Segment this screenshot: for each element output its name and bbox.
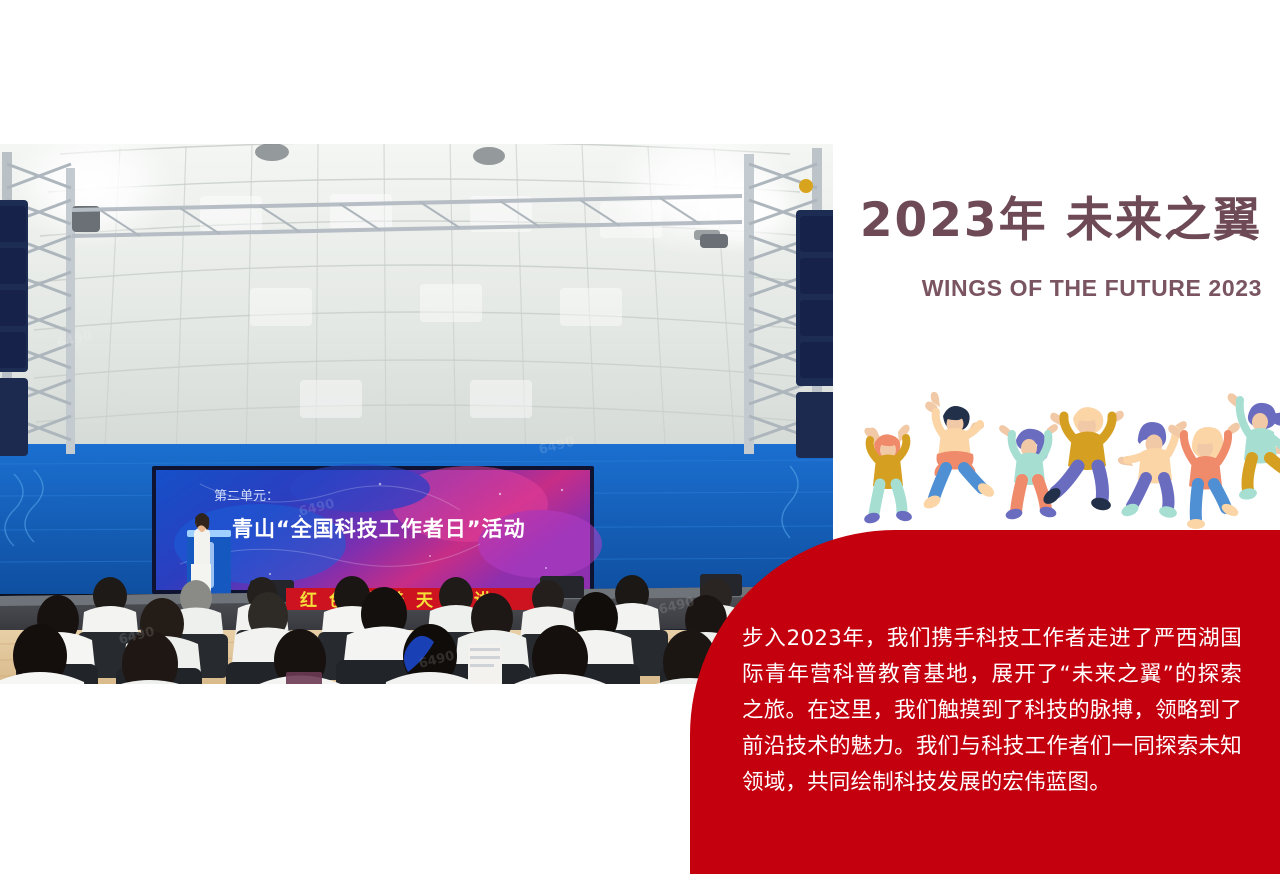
figure-1 [863, 425, 913, 525]
title-block: 2023年 未来之翼 WINGS OF THE FUTURE 2023 [832, 196, 1262, 302]
poster-page: 第二单元： 青山“全国科技工作者日”活动 [0, 0, 1280, 874]
red-description-panel: 步入2023年，我们携手科技工作者走进了严西湖国际青年营科普教育基地，展开了“未… [690, 530, 1280, 874]
description-text: 步入2023年，我们携手科技工作者走进了严西湖国际青年营科普教育基地，展开了“未… [742, 621, 1242, 801]
event-photo-graphic: 第二单元： 青山“全国科技工作者日”活动 [0, 144, 833, 684]
page-subtitle: WINGS OF THE FUTURE 2023 [832, 275, 1262, 302]
page-title: 2023年 未来之翼 [832, 196, 1262, 245]
event-photo: 第二单元： 青山“全国科技工作者日”活动 [0, 144, 833, 684]
figure-3 [999, 424, 1058, 521]
jumping-people-illustration [840, 386, 1280, 531]
jumping-people-graphic [840, 386, 1280, 531]
figure-4 [1040, 407, 1123, 512]
figure-6 [1168, 423, 1240, 529]
led-screen-line1: 第二单元： [214, 489, 279, 504]
figure-7 [1228, 393, 1280, 501]
figure-2 [921, 392, 996, 511]
led-screen-line2: 青山“全国科技工作者日”活动 [232, 517, 526, 541]
